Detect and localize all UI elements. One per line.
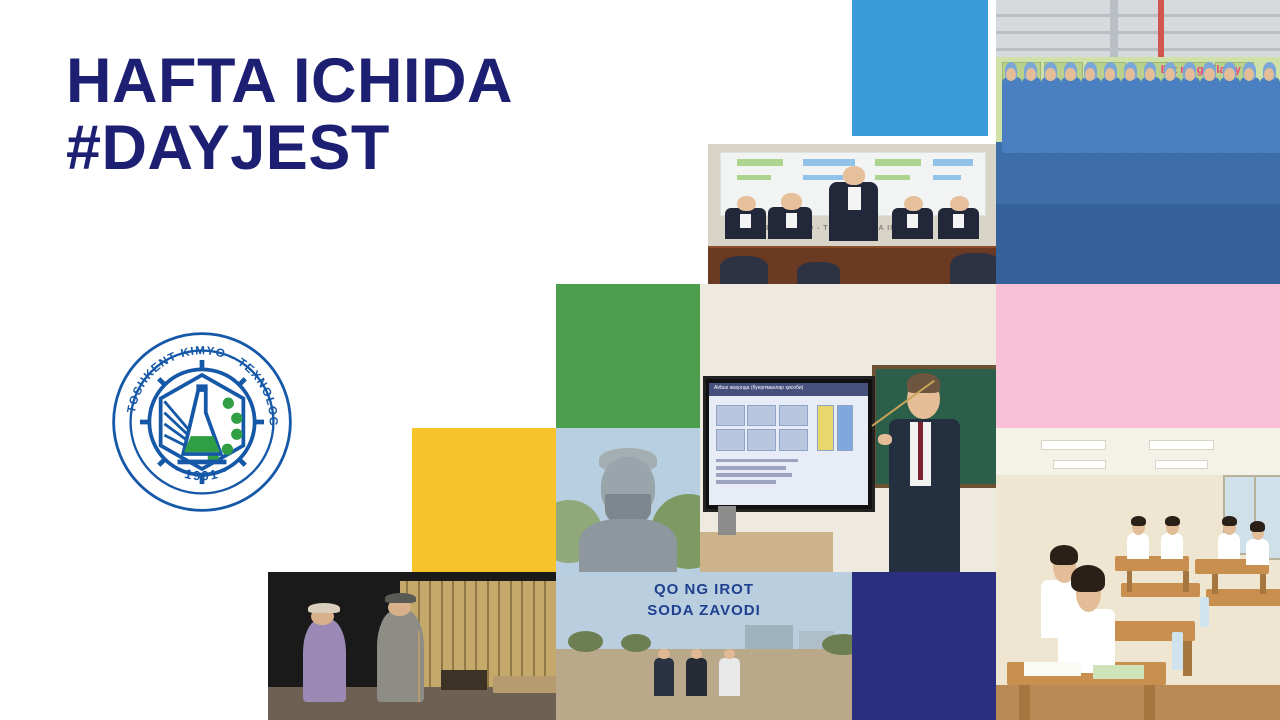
photo-theatre-performance <box>268 572 556 720</box>
slide-canvas: HAFTA ICHIDA #DAYJEST TOSHKENT KIMYO - T… <box>0 0 1280 720</box>
photo-statue-bust <box>556 428 700 572</box>
slide-title: Airbus жаҳонда (буюртманлар ҳисоби) <box>714 385 864 391</box>
block-navy <box>852 572 996 720</box>
institute-logo: TOSHKENT KIMYO - TEXNOLOGIYA INSTITUTI ·… <box>108 328 296 516</box>
page-title: HAFTA ICHIDA #DAYJEST <box>66 48 686 182</box>
sign-line-1: QO NG IROT <box>556 581 852 598</box>
block-pink <box>996 284 1280 428</box>
photo-classroom-exam <box>996 428 1280 720</box>
block-yellow <box>412 428 556 572</box>
photo-conference-presidium: TOSHKENT KIMYO - TEXNOLOGIYA INSTITUTI <box>708 144 996 284</box>
photo-factory-workers-blue: Biz ning oilaviy <box>996 0 1280 284</box>
photo-lecture-projector: Airbus жаҳонда (буюртманлар ҳисоби) <box>700 284 996 572</box>
sign-line-2: SODA ZAVODI <box>556 602 852 619</box>
block-green <box>556 284 700 428</box>
block-blue-top <box>852 0 988 136</box>
photo-soda-plant-sign: QO NG IROT SODA ZAVODI <box>556 572 852 720</box>
